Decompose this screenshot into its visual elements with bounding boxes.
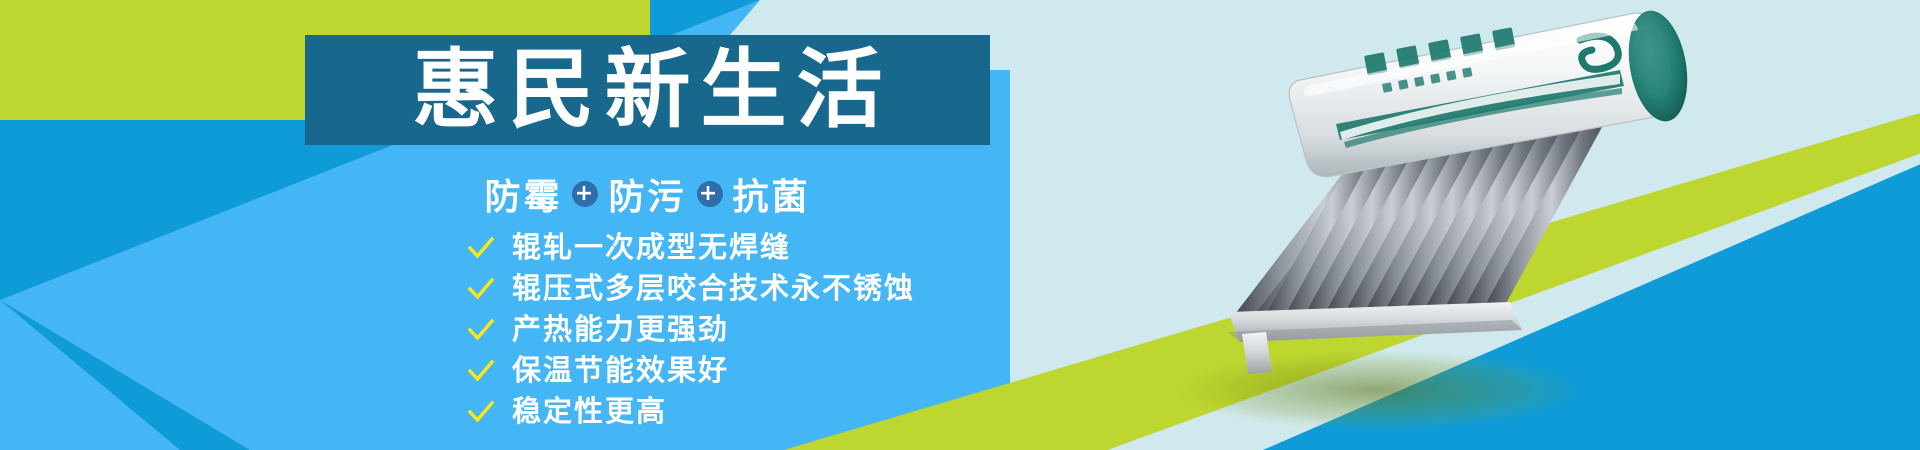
list-item: 产热能力更强劲 [468, 314, 915, 346]
plus-badge-icon: + [697, 181, 723, 207]
subtitle-part-1: 防霉 [484, 168, 562, 220]
list-item: 辊压式多层咬合技术永不锈蚀 [468, 273, 915, 305]
feature-label: 保温节能效果好 [512, 355, 729, 387]
solar-water-heater-icon [1150, 0, 1790, 450]
subtitle-row: 防霉 + 防污 + 抗菌 [305, 168, 990, 220]
banner-content: 惠民新生活 防霉 + 防污 + 抗菌 辊轧一次成型无焊缝 辊压式多层咬合技术永不… [0, 0, 1010, 450]
check-icon [468, 276, 494, 302]
check-icon [468, 235, 494, 261]
product-image [1150, 0, 1790, 450]
headline-text: 惠民新生活 [403, 47, 893, 133]
check-icon [468, 358, 494, 384]
list-item: 辊轧一次成型无焊缝 [468, 232, 915, 264]
check-icon [468, 317, 494, 343]
feature-label: 产热能力更强劲 [512, 314, 729, 346]
subtitle-part-2: 防污 [608, 168, 686, 220]
list-item: 稳定性更高 [468, 396, 915, 428]
feature-label: 辊压式多层咬合技术永不锈蚀 [512, 273, 915, 305]
headline-band: 惠民新生活 [305, 35, 990, 145]
subtitle-part-3: 抗菌 [733, 168, 811, 220]
check-icon [468, 399, 494, 425]
promo-banner: 惠民新生活 防霉 + 防污 + 抗菌 辊轧一次成型无焊缝 辊压式多层咬合技术永不… [0, 0, 1920, 450]
feature-label: 稳定性更高 [512, 396, 667, 428]
plus-badge-icon: + [572, 181, 598, 207]
feature-list: 辊轧一次成型无焊缝 辊压式多层咬合技术永不锈蚀 产热能力更强劲 保温节能效果好 [468, 232, 915, 427]
list-item: 保温节能效果好 [468, 355, 915, 387]
feature-label: 辊轧一次成型无焊缝 [512, 232, 791, 264]
